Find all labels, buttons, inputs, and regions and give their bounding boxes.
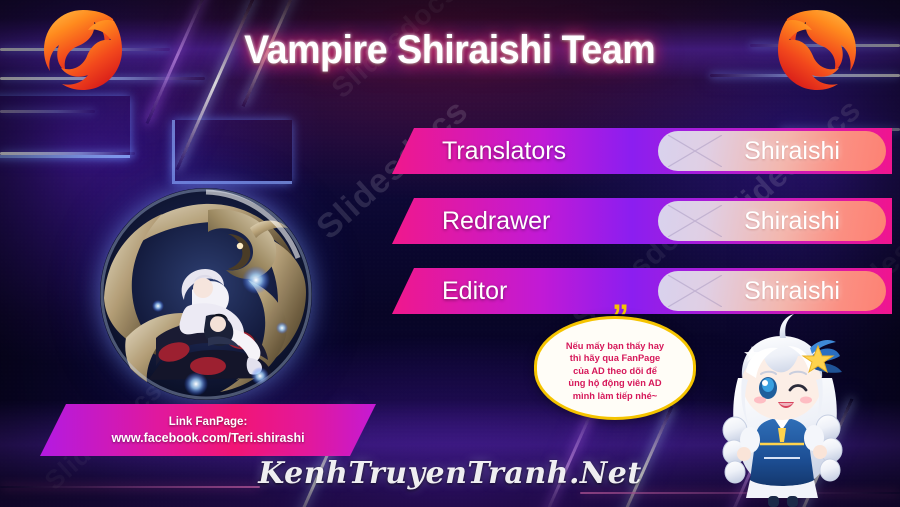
credit-name-text: Shiraishi: [744, 207, 840, 236]
bubble-line: mình làm tiếp nhé~: [573, 390, 657, 403]
site-watermark: KenhTruyenTranh.Net: [0, 456, 900, 491]
speech-bubble: ” Nếu mấy bạn thấy hay thì hãy qua FanPa…: [534, 316, 696, 420]
poster-canvas: Slidesdocs Slidesdocs Slidesdocs Slidesd…: [0, 0, 900, 507]
phoenix-logo-icon: [28, 6, 138, 98]
credit-row-redrawer[interactable]: Redrawer Shiraishi: [392, 198, 892, 244]
artwork-circle: [100, 188, 312, 400]
fanpage-link-url[interactable]: www.facebook.com/Teri.shirashi: [111, 431, 304, 445]
bubble-line: ủng hộ động viên AD: [568, 377, 661, 390]
credit-role-label: Editor: [442, 268, 507, 314]
credit-row-editor[interactable]: Editor Shiraishi: [392, 268, 892, 314]
credit-name-pill[interactable]: Shiraishi: [658, 131, 886, 171]
phoenix-logo-icon: [762, 6, 872, 98]
credit-row-translators[interactable]: Translators Shiraishi: [392, 128, 892, 174]
speech-bubble-text: Nếu mấy bạn thấy hay thì hãy qua FanPage…: [534, 316, 696, 420]
credit-name-text: Shiraishi: [744, 277, 840, 306]
pill-cross-decor-icon: [668, 135, 722, 167]
credit-role-label: Redrawer: [442, 198, 550, 244]
credit-name-pill[interactable]: Shiraishi: [658, 201, 886, 241]
page-title: Vampire Shiraishi Team: [244, 28, 655, 73]
bubble-line: của AD theo dõi để: [573, 365, 657, 378]
bubble-line: Nếu mấy bạn thấy hay: [566, 340, 664, 353]
bubble-line: thì hãy qua FanPage: [570, 352, 660, 365]
credit-role-label: Translators: [442, 128, 566, 174]
credit-name-pill[interactable]: Shiraishi: [658, 271, 886, 311]
fanpage-link-bar[interactable]: Link FanPage: www.facebook.com/Teri.shir…: [40, 404, 376, 456]
fanpage-link-label: Link FanPage:: [169, 416, 248, 428]
pill-cross-decor-icon: [668, 275, 722, 307]
credits-list: Translators Shiraishi Redrawer Shiraishi…: [392, 128, 892, 338]
pill-cross-decor-icon: [668, 205, 722, 237]
credit-name-text: Shiraishi: [744, 137, 840, 166]
